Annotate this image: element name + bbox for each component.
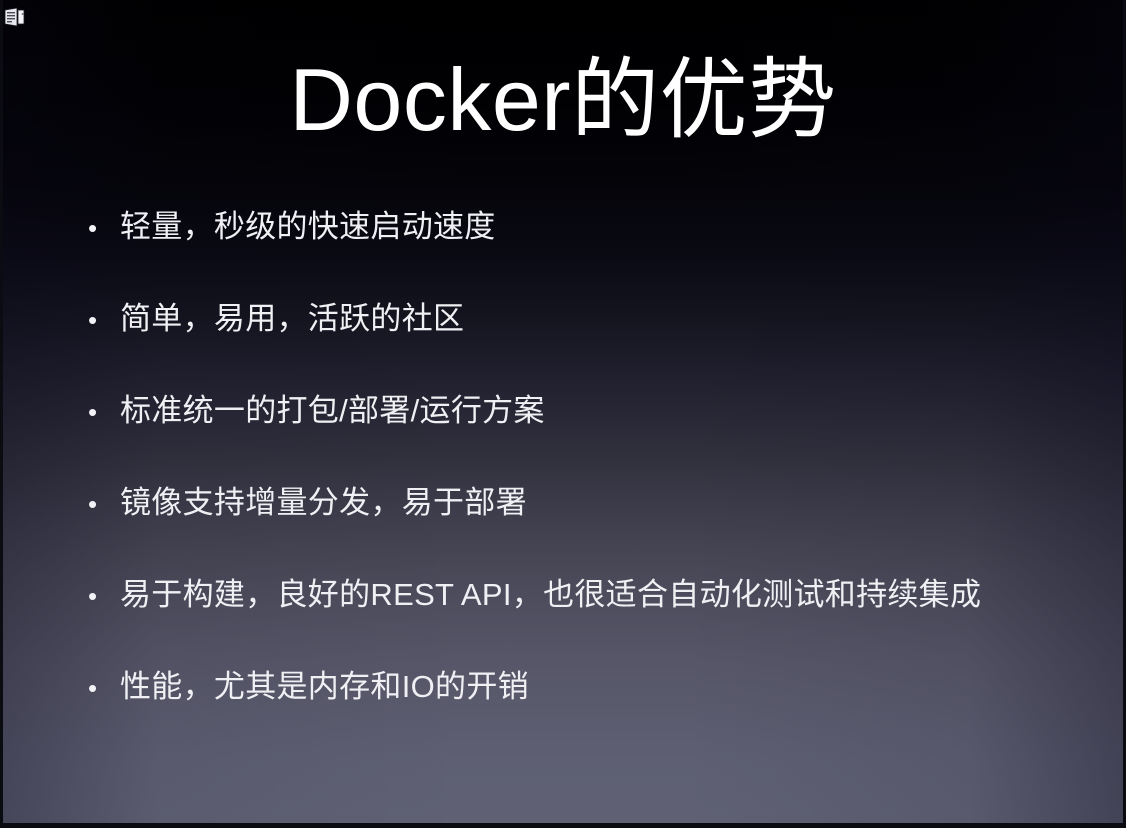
bullet-point-icon: • (88, 583, 120, 609)
bullet-point-icon: • (88, 399, 120, 425)
bullet-list: • 轻量，秒级的快速启动速度 • 简单，易用，活跃的社区 • 标准统一的打包/部… (88, 208, 1086, 760)
list-item-label: 镜像支持增量分发，易于部署 (120, 484, 1086, 522)
list-item: • 性能，尤其是内存和IO的开销 (88, 668, 1086, 760)
slide-content: Docker的优势 • 轻量，秒级的快速启动速度 • 简单，易用，活跃的社区 •… (0, 0, 1126, 828)
list-item-label: 轻量，秒级的快速启动速度 (120, 208, 1086, 246)
list-item: • 标准统一的打包/部署/运行方案 (88, 392, 1086, 484)
list-item: • 易于构建，良好的REST API，也很适合自动化测试和持续集成 (88, 576, 1086, 668)
list-item: • 简单，易用，活跃的社区 (88, 300, 1086, 392)
bullet-point-icon: • (88, 675, 120, 701)
bullet-point-icon: • (88, 307, 120, 333)
list-item-label: 标准统一的打包/部署/运行方案 (120, 392, 1086, 430)
list-item: • 轻量，秒级的快速启动速度 (88, 208, 1086, 300)
slide-title: Docker的优势 (0, 52, 1126, 147)
bullet-point-icon: • (88, 215, 120, 241)
bullet-point-icon: • (88, 491, 120, 517)
list-item-label: 易于构建，良好的REST API，也很适合自动化测试和持续集成 (120, 576, 1086, 614)
list-item: • 镜像支持增量分发，易于部署 (88, 484, 1086, 576)
list-item-label: 性能，尤其是内存和IO的开销 (120, 668, 1086, 706)
presentation-slide: Docker的优势 • 轻量，秒级的快速启动速度 • 简单，易用，活跃的社区 •… (0, 0, 1126, 828)
list-item-label: 简单，易用，活跃的社区 (120, 300, 1086, 338)
document-presentation-icon[interactable] (3, 6, 27, 30)
